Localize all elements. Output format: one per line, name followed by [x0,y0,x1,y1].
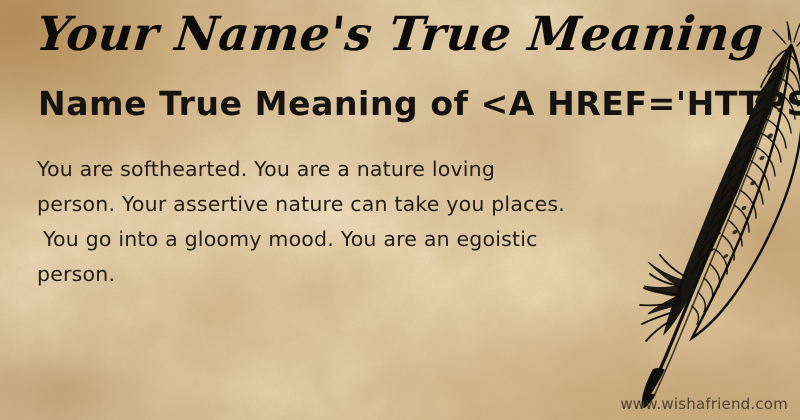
paragraph-line: person. Your assertive nature can take y… [37,187,637,222]
paragraph-line: You go into a gloomy mood. You are an eg… [37,222,637,257]
paragraph-line: You are softhearted. You are a nature lo… [37,152,637,187]
name-meaning-subtitle: Name True Meaning of <A HREF='HTTPS:// [38,84,800,124]
meaning-paragraph: You are softhearted. You are a nature lo… [37,152,637,292]
site-watermark: www.wishafriend.com [620,395,788,413]
name-meaning-card: Your Name's True Meaning Name True Meani… [0,0,800,420]
paragraph-line: person. [37,257,637,292]
page-title: Your Name's True Meaning [0,4,800,66]
